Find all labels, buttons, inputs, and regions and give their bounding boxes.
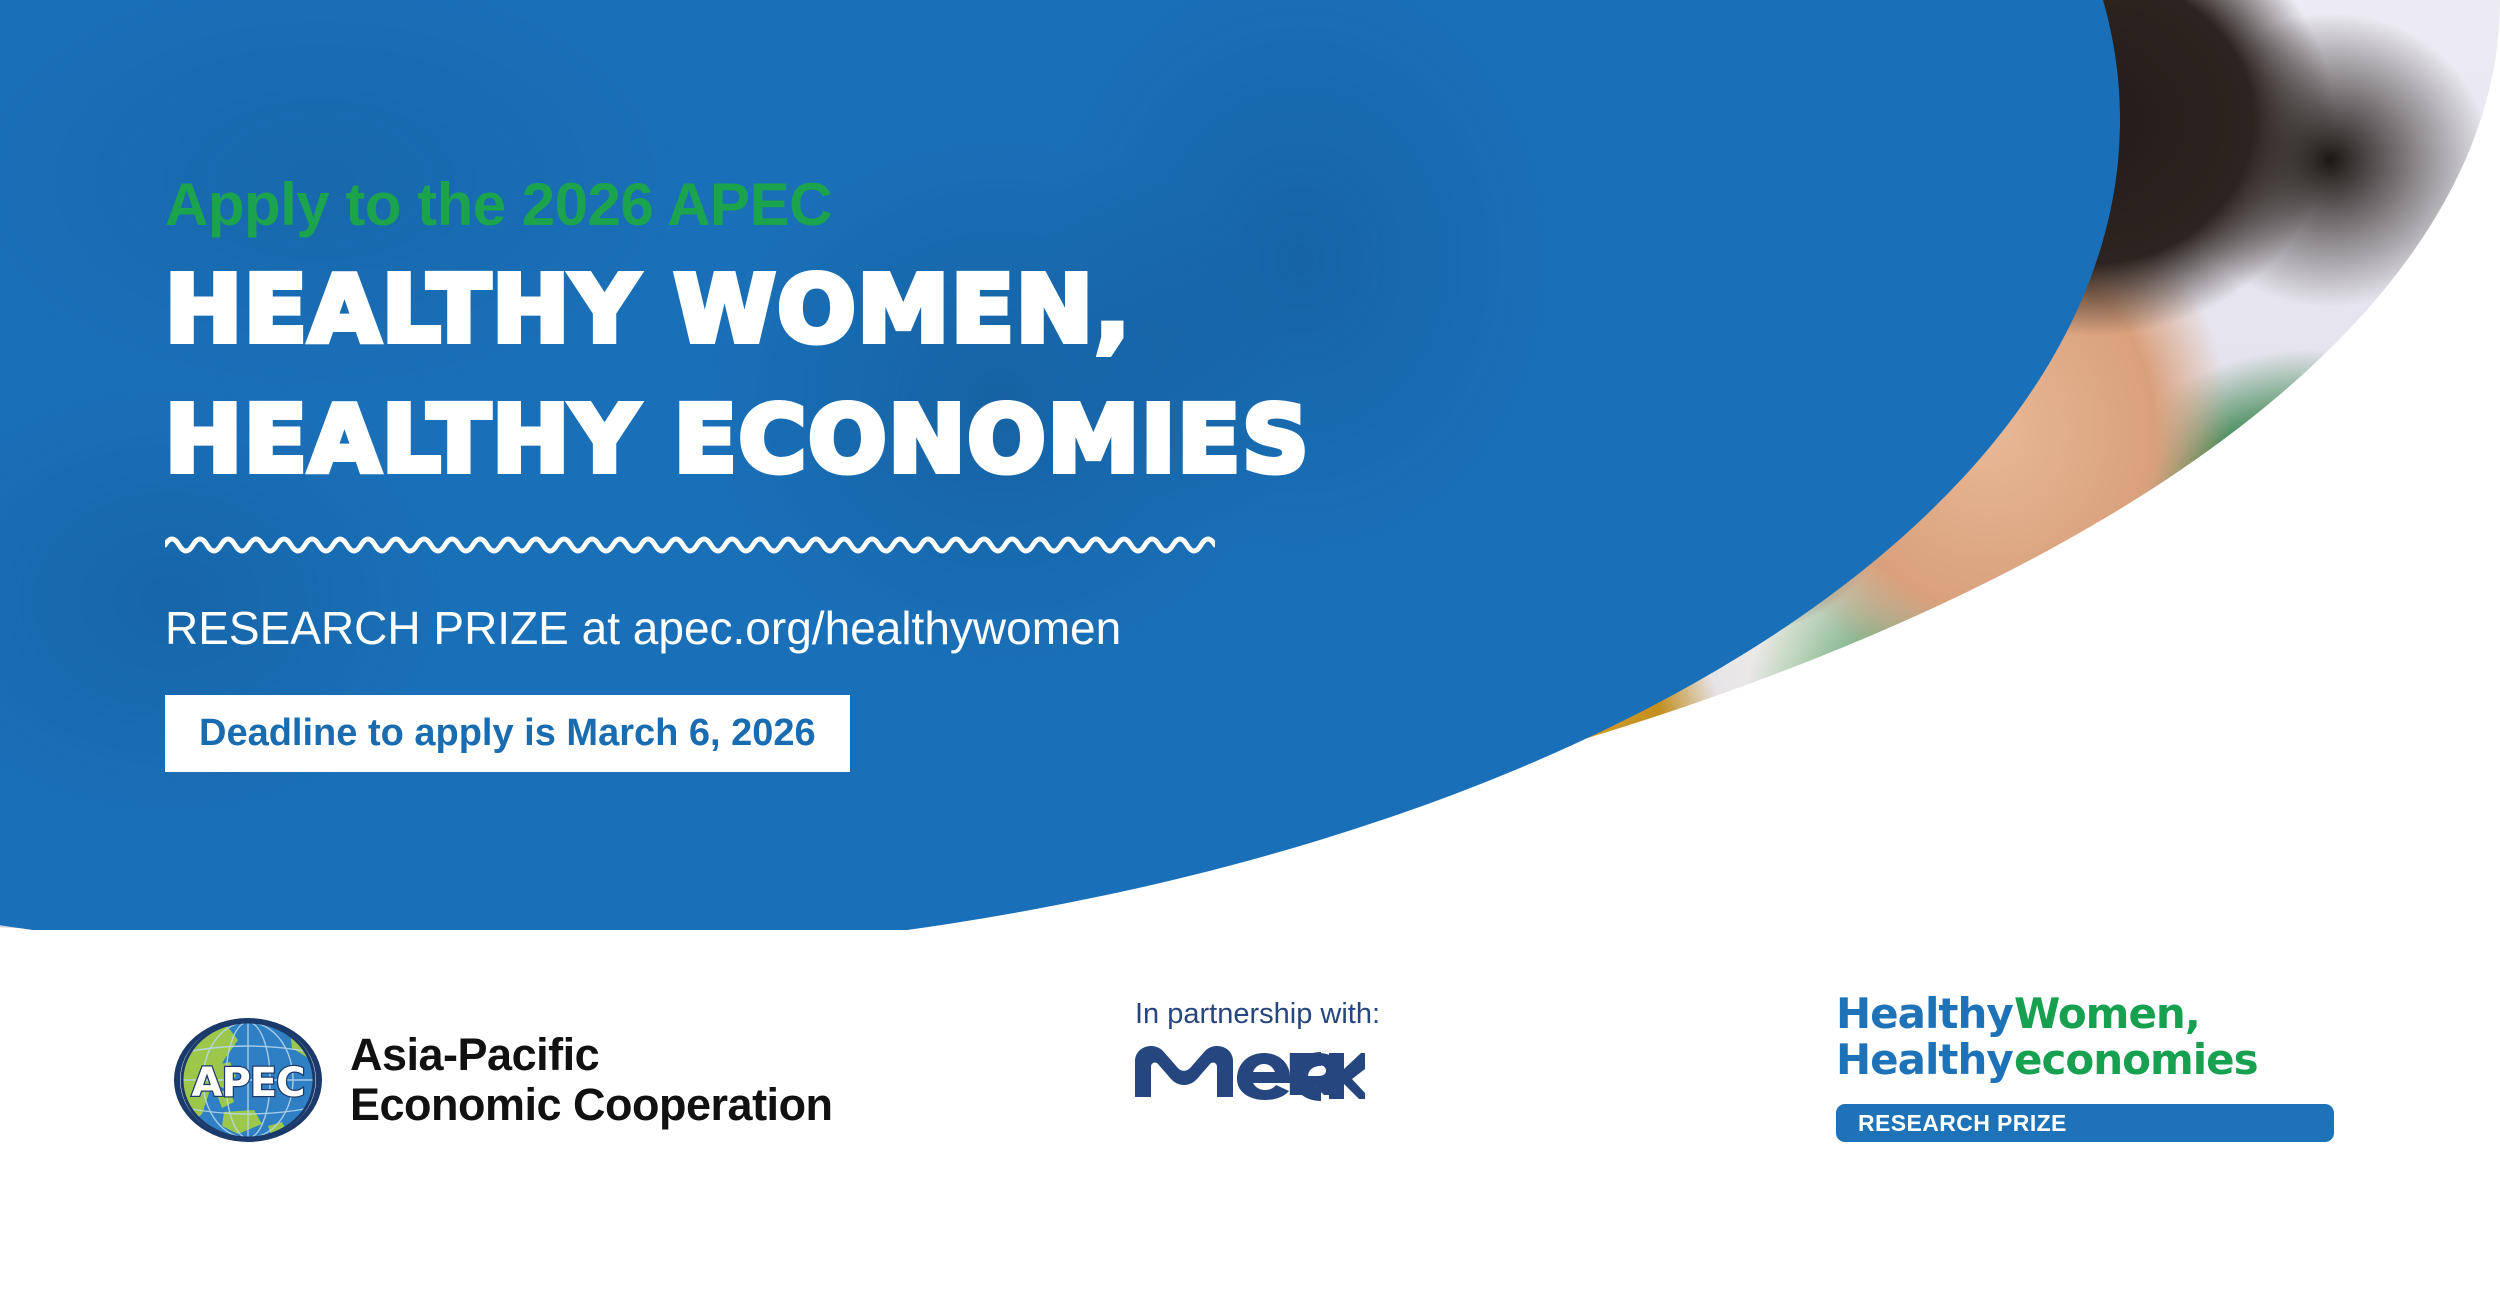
prize-url-text: RESEARCH PRIZE at apec.org/healthywomen (165, 601, 1585, 655)
apec-name: Asia-Pacific Economic Cooperation (350, 1030, 833, 1131)
partner-label: In partnership with: (1135, 998, 1380, 1031)
headline-line-1: Healthy Women, (165, 263, 1585, 357)
apec-name-line-2: Economic Cooperation (350, 1080, 833, 1130)
hero-banner: Apply to the 2026 APEC Healthy Women, He… (0, 0, 2500, 930)
headline-line-2: Healthy Economies (165, 393, 1585, 487)
apec-name-line-1: Asia-Pacific (350, 1030, 833, 1080)
eyebrow-text: Apply to the 2026 APEC (165, 175, 1585, 235)
program-word-healthy-1: Healthy (1836, 989, 2013, 1038)
healthy-women-healthy-economies-logo: Healthy Women, Healthy economies (1836, 986, 2336, 1090)
merck-logo-icon (1133, 1039, 1365, 1101)
apec-logo-lockup: APEC Asia-Pacific Economic Cooperation (172, 1018, 833, 1142)
program-word-healthy-2: Healthy (1836, 1035, 2013, 1084)
program-logo-lockup: Healthy Women, Healthy economies RESEARC… (1836, 986, 2336, 1142)
hero-copy: Apply to the 2026 APEC Healthy Women, He… (165, 175, 1585, 772)
research-prize-label: RESEARCH PRIZE (1858, 1110, 2067, 1137)
apec-globe-icon: APEC (172, 1018, 324, 1142)
deadline-badge: Deadline to apply is March 6, 2026 (165, 695, 850, 772)
research-prize-pill: RESEARCH PRIZE (1836, 1104, 2334, 1142)
svg-text:APEC: APEC (192, 1060, 305, 1106)
program-word-economies: economies (2014, 1035, 2258, 1084)
footer-bar: APEC Asia-Pacific Economic Cooperation I… (0, 930, 2500, 1308)
partner-block: In partnership with: (1133, 998, 1380, 1106)
program-word-women: Women, (2014, 989, 2200, 1038)
wavy-divider-icon (165, 529, 1215, 555)
